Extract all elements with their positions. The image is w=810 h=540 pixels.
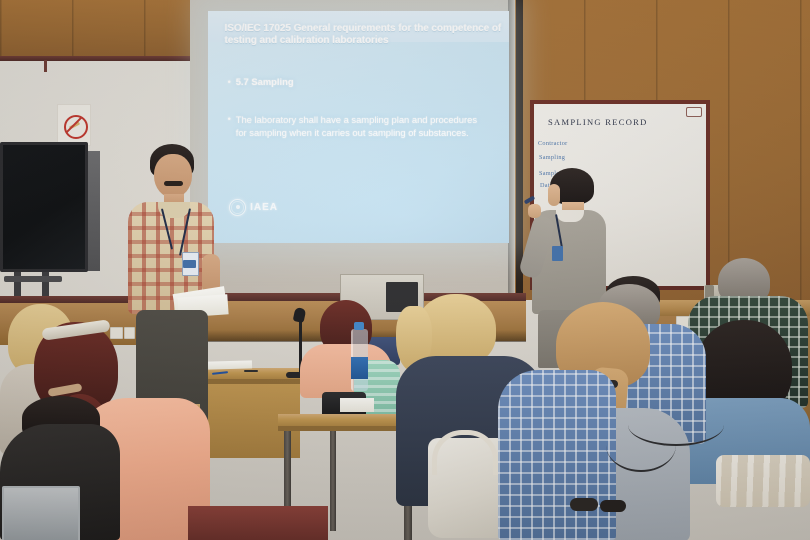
- whiteboard-brand-logo: [686, 107, 702, 117]
- water-bottle-label: [351, 357, 368, 379]
- no-smoking-sign: [57, 104, 91, 146]
- whiteboard-note: Sampling: [539, 154, 565, 161]
- desk-red-edge: [188, 506, 328, 540]
- classroom-scene: ISO/IEC 17025 General requirements for t…: [0, 0, 810, 540]
- iaea-logo-text: IAEA: [250, 202, 278, 213]
- whiteboard-heading: SAMPLING RECORD: [548, 117, 648, 127]
- tv-screen: [3, 145, 85, 269]
- audience-shirt: [498, 370, 616, 540]
- tv-monitor: [0, 142, 88, 272]
- slide-bullet-1: • 5.7 Sampling: [228, 76, 469, 88]
- writer-badge: [552, 246, 563, 261]
- bullet-marker: •: [228, 76, 231, 88]
- bullet-text: 5.7 Sampling: [236, 76, 294, 88]
- cloth-pile: [716, 455, 810, 507]
- shoe: [600, 500, 626, 512]
- prohibition-ring-icon: [64, 115, 88, 139]
- floor-cable: [606, 418, 676, 472]
- bullet-marker: •: [228, 113, 231, 125]
- wood-ceiling-panel: [0, 0, 190, 58]
- presenter-moustache: [164, 181, 183, 186]
- handbag-strap: [432, 430, 498, 475]
- presenter-head: [154, 154, 192, 198]
- iaea-logo: IAEA: [229, 199, 278, 216]
- speaker-panel: [86, 151, 100, 271]
- desk-top: [278, 414, 402, 426]
- writer-face-edge: [548, 184, 560, 206]
- audience-blue-check-front: [498, 370, 618, 540]
- slide-bullet-2: • The laboratory shall have a sampling p…: [228, 113, 478, 139]
- projector-screen: ISO/IEC 17025 General requirements for t…: [208, 11, 509, 243]
- iaea-emblem-icon: [229, 199, 246, 216]
- shoe: [570, 498, 598, 511]
- rail-pipe: [44, 60, 47, 72]
- writer-hand: [528, 204, 541, 218]
- whiteboard-note: Contractor: [538, 140, 567, 147]
- tv-stand-base: [4, 276, 62, 282]
- wall-rail-left: [0, 56, 192, 61]
- name-card: [340, 398, 374, 412]
- presenter-badge-stripe: [183, 260, 196, 268]
- desk-leg: [330, 431, 336, 531]
- water-bottle-cap: [354, 322, 364, 330]
- pen-on-desk: [244, 370, 258, 372]
- slide-title: ISO/IEC 17025 General requirements for t…: [225, 23, 502, 48]
- bullet-text: The laboratory shall have a sampling pla…: [236, 113, 478, 139]
- laptop[interactable]: [2, 486, 80, 540]
- desk-edge: [278, 426, 402, 431]
